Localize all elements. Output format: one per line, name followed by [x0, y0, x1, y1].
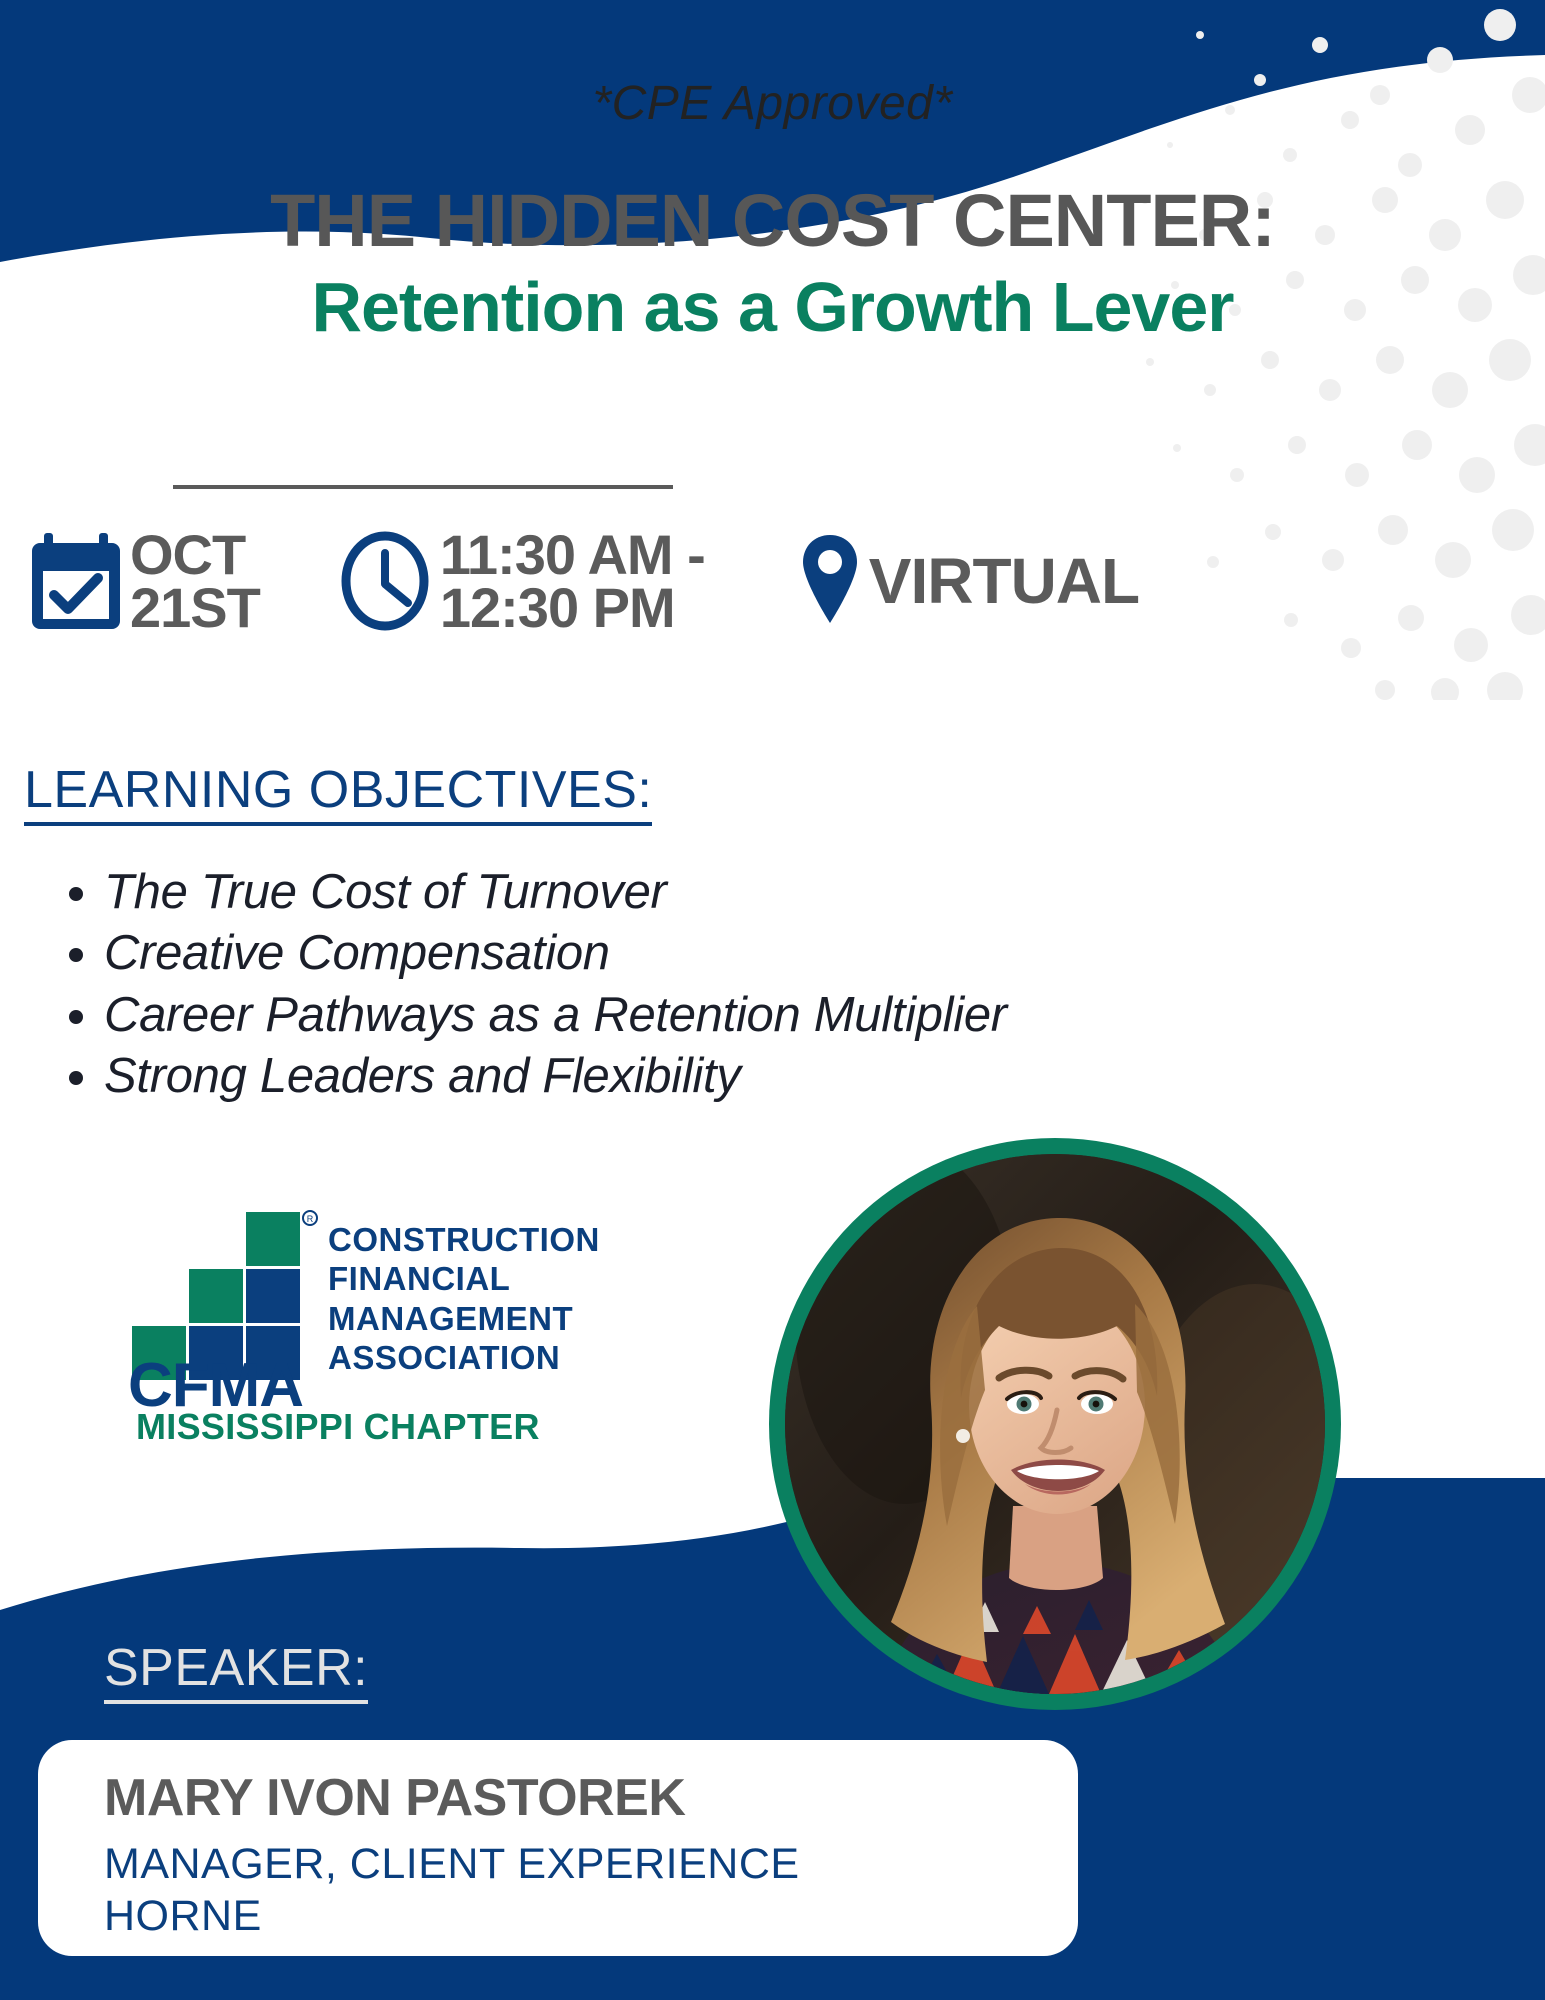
- event-flyer: *CPE Approved* THE HIDDEN COST CENTER: R…: [0, 0, 1545, 2000]
- speaker-card: MARY IVON PASTOREK MANAGER, CLIENT EXPER…: [38, 1740, 1078, 1956]
- event-time-text: 11:30 AM - 12:30 PM: [440, 528, 705, 634]
- list-item: The True Cost of Turnover: [104, 862, 1007, 923]
- event-date: OCT 21ST: [28, 528, 260, 634]
- clock-icon: [338, 529, 432, 633]
- svg-text:R: R: [307, 1214, 314, 1224]
- learning-objectives-list: The True Cost of Turnover Creative Compe…: [52, 862, 1007, 1107]
- learning-objectives-heading: LEARNING OBJECTIVES:: [24, 760, 652, 826]
- cfma-logo-wordmark: CONSTRUCTION FINANCIAL MANAGEMENT ASSOCI…: [328, 1220, 600, 1377]
- cfma-word-construction: CONSTRUCTION: [328, 1220, 600, 1259]
- cfma-word-association: ASSOCIATION: [328, 1338, 600, 1377]
- cfma-word-financial: FINANCIAL: [328, 1259, 600, 1298]
- cpe-approved-note: *CPE Approved*: [0, 76, 1545, 131]
- speaker-photo-ring: [769, 1138, 1341, 1710]
- speaker-role: MANAGER, CLIENT EXPERIENCE: [104, 1838, 800, 1892]
- event-date-text: OCT 21ST: [130, 528, 260, 634]
- cfma-logo: R CFMA CONSTRUCTION FINANCIAL MANAGEMENT…: [128, 1208, 558, 1438]
- speaker-headshot-illustration: [785, 1154, 1325, 1694]
- location-pin-icon: [797, 529, 863, 633]
- page-title: THE HIDDEN COST CENTER:: [0, 184, 1545, 258]
- speaker-organization: HORNE: [104, 1892, 262, 1941]
- list-item: Career Pathways as a Retention Multiplie…: [104, 985, 1007, 1046]
- event-location-text: VIRTUAL: [869, 544, 1139, 618]
- svg-text:CFMA: CFMA: [128, 1351, 303, 1408]
- speaker-name: MARY IVON PASTOREK: [104, 1768, 685, 1828]
- list-item: Strong Leaders and Flexibility: [104, 1046, 1007, 1107]
- cfma-chapter-name: MISSISSIPPI CHAPTER: [136, 1406, 540, 1448]
- avatar: [785, 1154, 1325, 1694]
- title-divider: [173, 485, 673, 489]
- event-time: 11:30 AM - 12:30 PM: [338, 528, 705, 634]
- page-subtitle: Retention as a Growth Lever: [0, 272, 1545, 342]
- speaker-label: SPEAKER:: [104, 1638, 368, 1704]
- cfma-word-management: MANAGEMENT: [328, 1299, 600, 1338]
- event-location: VIRTUAL: [797, 529, 1139, 633]
- cfma-logo-mark: R CFMA: [128, 1208, 318, 1408]
- list-item: Creative Compensation: [104, 923, 1007, 984]
- calendar-check-icon: [28, 529, 124, 633]
- event-meta-row: OCT 21ST 11:30 AM - 12:30 PM VIRTUAL: [28, 528, 1478, 634]
